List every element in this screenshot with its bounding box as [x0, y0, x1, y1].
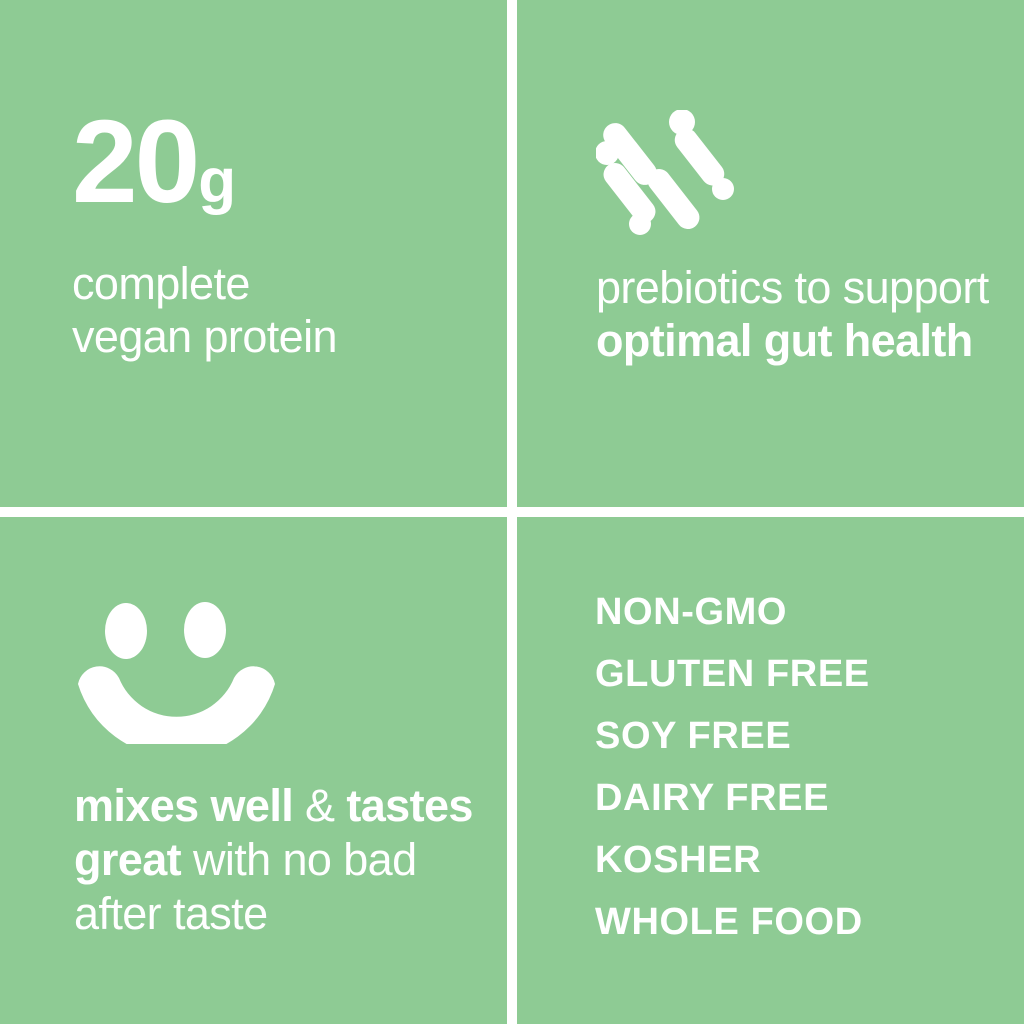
smiley-face-icon	[68, 599, 284, 744]
protein-amount-unit: g	[198, 146, 235, 217]
product-benefits-infographic: 20g complete vegan protein	[0, 0, 1024, 1024]
taste-caption-regular-amp: &	[293, 780, 346, 831]
certification-list: NON-GMO GLUTEN FREE SOY FREE DAIRY FREE …	[595, 582, 870, 954]
prebiotics-caption-regular: prebiotics to support	[596, 262, 989, 313]
certification-item: SOY FREE	[595, 706, 870, 768]
prebiotics-caption: prebiotics to support optimal gut health	[596, 262, 996, 367]
certification-item: GLUTEN FREE	[595, 644, 870, 706]
taste-caption: mixes well & tastes great with no bad af…	[74, 779, 494, 941]
certification-item: WHOLE FOOD	[595, 892, 870, 954]
certification-item: DAIRY FREE	[595, 768, 870, 830]
taste-caption-bold-mixes: mixes well	[74, 780, 293, 831]
protein-stat: 20g	[72, 108, 235, 217]
panel-prebiotics: prebiotics to support optimal gut health	[517, 0, 1024, 507]
smiley-mouth	[78, 666, 275, 744]
protein-caption: complete vegan protein	[72, 258, 337, 363]
panel-taste: mixes well & tastes great with no bad af…	[0, 517, 507, 1024]
panel-certifications: NON-GMO GLUTEN FREE SOY FREE DAIRY FREE …	[517, 517, 1024, 1024]
prebiotics-caption-bold: optimal gut health	[596, 315, 973, 366]
panel-protein: 20g complete vegan protein	[0, 0, 507, 507]
protein-amount-number: 20	[72, 108, 197, 217]
smiley-right-eye	[184, 602, 226, 658]
certification-item: NON-GMO	[595, 582, 870, 644]
smiley-left-eye	[105, 603, 147, 659]
certification-item: KOSHER	[595, 830, 870, 892]
prebiotic-bacteria-icon	[596, 110, 736, 235]
